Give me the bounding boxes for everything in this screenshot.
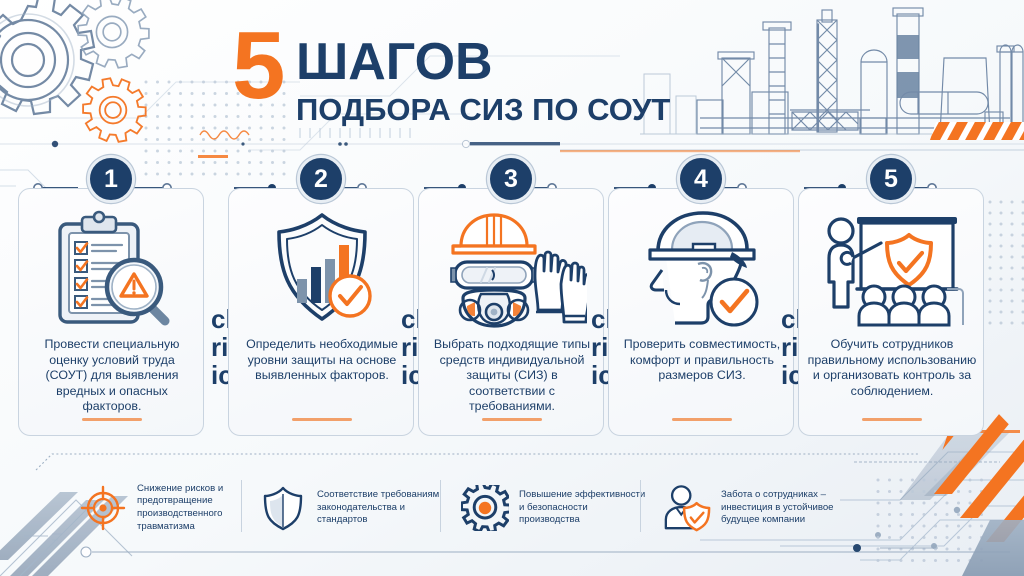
benefit-4-text: Забота о сотрудниках – инвестиция в усто… <box>721 489 849 527</box>
benefit-divider-2 <box>440 480 441 532</box>
clipboard-checklist-magnifier-warning-icon <box>42 208 182 328</box>
step-separator-2: chevron-right-icon <box>401 305 417 333</box>
header: 5 ШАГОВ ПОДБОРА СИЗ ПО СОУТ <box>0 0 1024 148</box>
step-4-underline <box>672 418 732 421</box>
benefit-1-text: Снижение рисков и предотвращение произво… <box>137 483 265 533</box>
step-card-3[interactable]: Выбрать подходящие типы средств индивиду… <box>418 188 604 436</box>
step-1-icon-wrap <box>19 203 205 333</box>
title-block: 5 ШАГОВ ПОДБОРА СИЗ ПО СОУТ <box>232 22 702 132</box>
benefits-row: Снижение рисков и предотвращение произво… <box>0 462 1024 558</box>
helmet-goggles-respirator-gloves-icon <box>437 206 587 330</box>
shield-bar-chart-check-icon <box>257 207 387 329</box>
step-badge-2[interactable]: 2 <box>297 155 345 203</box>
step-card-2[interactable]: Определить необходимые уровни защиты на … <box>228 188 414 436</box>
page-title: ШАГОВ <box>296 36 493 88</box>
step-3-icon-wrap <box>419 203 605 333</box>
step-4-icon-wrap <box>609 203 795 333</box>
step-separator-4: chevron-right-icon <box>781 305 797 333</box>
gear-dot-icon <box>460 483 510 533</box>
step-card-5[interactable]: Обучить сотрудников правильному использо… <box>798 188 984 436</box>
benefit-3-text: Повышение эффективности и безопасности п… <box>519 489 647 527</box>
shield-icon <box>258 483 308 533</box>
step-5-text: Обучить сотрудников правильному использо… <box>807 337 977 399</box>
benefit-divider-3 <box>640 480 641 532</box>
page-subtitle: ПОДБОРА СИЗ ПО СОУТ <box>296 94 670 125</box>
benefit-item-3[interactable]: Повышение эффективности и безопасности п… <box>460 468 647 548</box>
header-number: 5 <box>232 18 283 114</box>
benefit-item-4[interactable]: Забота о сотрудниках – инвестиция в усто… <box>662 468 849 548</box>
training-presentation-shield-icon <box>819 207 965 329</box>
worker-head-helmet-check-icon <box>636 206 768 330</box>
step-5-icon-wrap <box>799 203 985 333</box>
step-2-underline <box>292 418 352 421</box>
benefit-2-text: Соответствие требованиям законодательств… <box>317 489 445 527</box>
step-card-4[interactable]: Проверить совместимость, комфорт и прави… <box>608 188 794 436</box>
step-badge-5[interactable]: 5 <box>867 155 915 203</box>
step-3-text: Выбрать подходящие типы средств индивиду… <box>427 337 597 415</box>
step-4-text: Проверить совместимость, комфорт и прави… <box>617 337 787 384</box>
steps-row: Провести специальную оценку условий труд… <box>0 155 1024 445</box>
benefit-item-1[interactable]: Снижение рисков и предотвращение произво… <box>78 468 265 548</box>
benefit-divider-1 <box>241 480 242 532</box>
benefit-item-2[interactable]: Соответствие требованиям законодательств… <box>258 468 445 548</box>
step-3-underline <box>482 418 542 421</box>
step-5-underline <box>862 418 922 421</box>
person-shield-check-icon <box>662 483 712 533</box>
infographic-root: 5 ШАГОВ ПОДБОРА СИЗ ПО СОУТ <box>0 0 1024 576</box>
step-badge-3[interactable]: 3 <box>487 155 535 203</box>
step-2-icon-wrap <box>229 203 415 333</box>
step-1-underline <box>82 418 142 421</box>
step-badge-1[interactable]: 1 <box>87 155 135 203</box>
step-badge-4[interactable]: 4 <box>677 155 725 203</box>
target-crosshair-icon <box>78 483 128 533</box>
step-separator-1: chevron-right-icon <box>211 305 227 333</box>
step-2-text: Определить необходимые уровни защиты на … <box>237 337 407 384</box>
step-card-1[interactable]: Провести специальную оценку условий труд… <box>18 188 204 436</box>
step-1-text: Провести специальную оценку условий труд… <box>27 337 197 415</box>
step-separator-3: chevron-right-icon <box>591 305 607 333</box>
